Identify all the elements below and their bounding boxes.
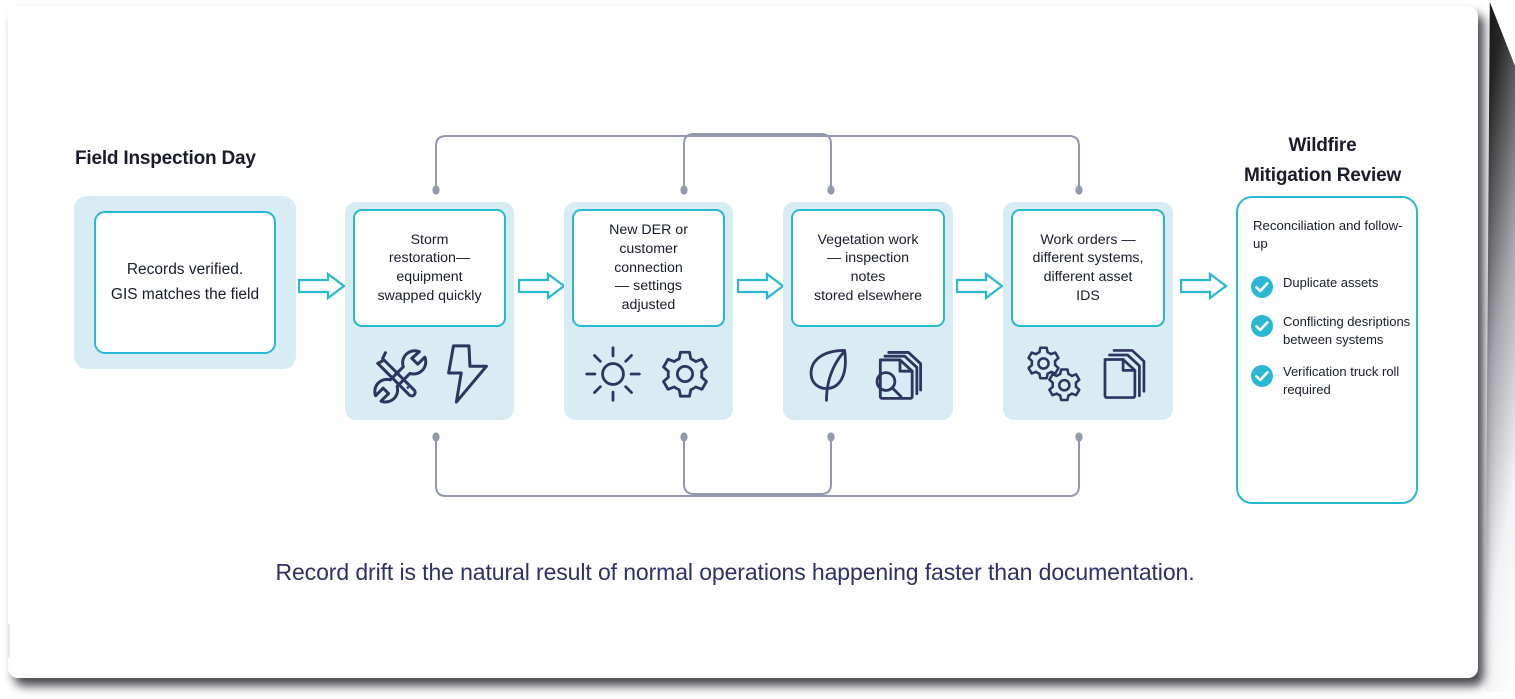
start-panel: Records verified. GIS matches the field [74,196,296,369]
stage-panel-vegetation-work: Vegetation work — inspection notes store… [783,202,953,420]
stage-text-line: equipment [377,268,481,287]
stage-box: New DER or customer connection — setting… [572,209,725,327]
bracket-dot [432,185,439,194]
stage-text-line: notes [814,268,922,287]
review-list-item[interactable]: Conflicting desriptions between systems [1250,313,1412,349]
stage-icons [564,334,733,414]
stage-text: New DER or customer connection — setting… [609,221,688,315]
stage-text-line: Storm [377,231,481,250]
leaf-icon [806,345,856,403]
check-circle-icon [1250,364,1274,388]
start-panel-text: Records verified. GIS matches the field [111,258,259,306]
start-panel-line2: GIS matches the field [111,283,259,307]
tools-icon [369,343,431,405]
stage-text-line: New DER or [609,221,688,240]
stage-text-line: different systems, [1033,249,1144,268]
bracket-dot [827,432,834,441]
diagram-stage: Field Inspection Day Wildfire Mitigation… [0,0,1515,699]
sun-icon [584,345,642,403]
heading-right-line1: Wildfire [1215,131,1430,161]
heading-wildfire-mitigation-review: Wildfire Mitigation Review [1215,131,1430,191]
stage-text-line: Vegetation work [814,231,922,250]
bracket-dot [432,432,439,441]
stage-box: Work orders — different systems, differe… [1011,209,1165,327]
caption-text: Record drift is the natural result of no… [0,559,1470,586]
review-item-label: Verification truck roll required [1283,363,1412,399]
stage-text-line: swapped quickly [377,287,481,306]
stage-box: Storm restoration— equipment swapped qui… [353,209,506,327]
check-circle-icon [1250,314,1274,338]
stage-text-line: IDS [1033,287,1144,306]
gear-icon [656,345,714,403]
stage-icons [345,334,514,414]
gears-icon [1024,345,1082,403]
stage-panel-new-der-connection: New DER or customer connection — setting… [564,202,733,420]
bracket-dot [1075,432,1082,441]
check-circle-icon [1250,275,1274,299]
stage-text-line: stored elsewhere [814,287,922,306]
stage-text-line: — inspection [814,249,922,268]
stage-text-line: different asset [1033,268,1144,287]
review-item-label: Conflicting desriptions between systems [1283,313,1412,349]
document-search-icon [870,344,930,404]
review-item-label: Duplicate assets [1283,274,1378,292]
start-panel-line1: Records verified. [111,258,259,282]
review-list-item[interactable]: Duplicate assets [1250,274,1412,299]
bracket-dot [1075,185,1082,194]
review-checklist: Duplicate assets Conflicting desriptions… [1250,274,1412,399]
stage-text-line: customer [609,240,688,259]
arrow-right-icon [298,271,346,301]
arrow-right-icon [1180,271,1228,301]
stage-panel-work-orders: Work orders — different systems, differe… [1003,202,1173,420]
stage-icons [783,334,953,414]
bracket-dot [680,432,687,441]
stage-text: Work orders — different systems, differe… [1033,231,1144,306]
slide-root: Field Inspection Day Wildfire Mitigation… [0,0,1515,699]
review-subtitle: Reconciliation and follow-up [1253,217,1403,253]
stage-text: Vegetation work — inspection notes store… [814,231,922,306]
stage-text-line: — settings [609,277,688,296]
wildfire-review-card: Reconciliation and follow-up Duplicate a… [1236,196,1418,504]
documents-stack-icon [1096,345,1152,403]
stage-text: Storm restoration— equipment swapped qui… [377,231,481,306]
lightning-bolt-icon [445,343,491,405]
stage-icons [1003,334,1173,414]
arrow-right-icon [518,271,566,301]
start-panel-box: Records verified. GIS matches the field [94,211,276,354]
bracket-dot [827,185,834,194]
heading-right-line2: Mitigation Review [1215,161,1430,191]
stage-text-line: Work orders — [1033,231,1144,250]
stage-text-line: adjusted [609,296,688,315]
stage-panel-storm-restoration: Storm restoration— equipment swapped qui… [345,202,514,420]
heading-field-inspection-day: Field Inspection Day [75,148,256,170]
stage-text-line: restoration— [377,249,481,268]
arrow-right-icon [737,271,785,301]
arrow-right-icon [956,271,1004,301]
bracket-dot [680,185,687,194]
stage-text-line: connection [609,259,688,278]
stage-box: Vegetation work — inspection notes store… [791,209,945,327]
review-list-item[interactable]: Verification truck roll required [1250,363,1412,399]
